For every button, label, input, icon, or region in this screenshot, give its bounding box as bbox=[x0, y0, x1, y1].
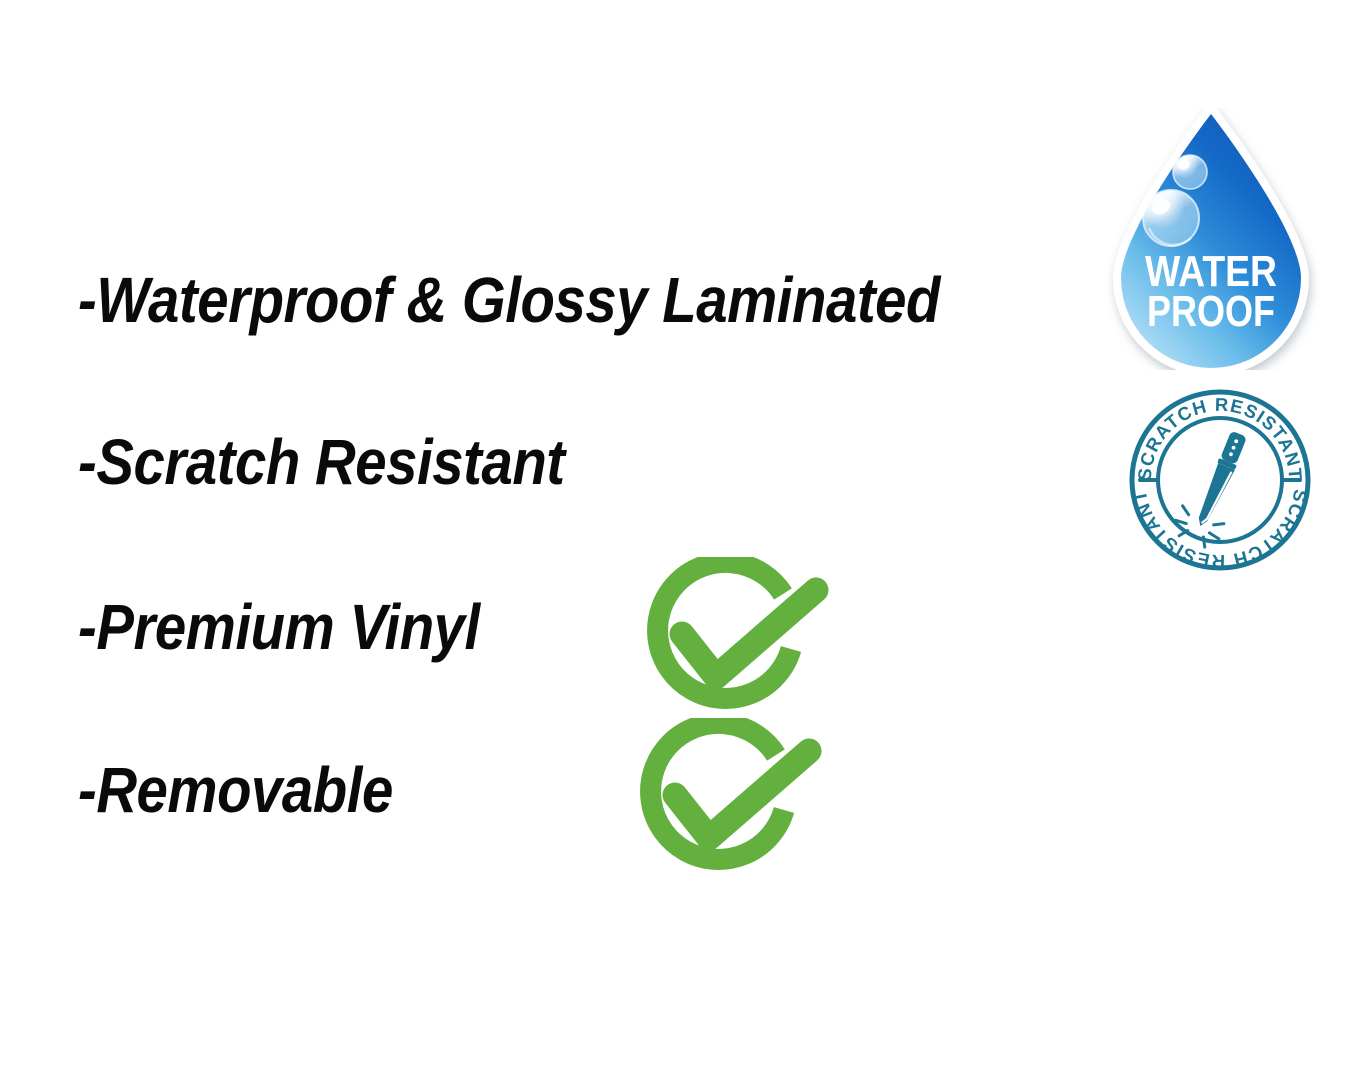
seal-text-bottom: SCRATCH RESISTANT bbox=[1129, 488, 1312, 572]
checkmark-premium-vinyl bbox=[640, 557, 836, 729]
checkmark-removable bbox=[633, 718, 829, 890]
feature-label: -Scratch Resistant bbox=[78, 430, 565, 494]
feature-label: -Premium Vinyl bbox=[78, 595, 480, 659]
feature-label: -Removable bbox=[78, 758, 393, 822]
feature-item-premium-vinyl: -Premium Vinyl bbox=[78, 595, 535, 659]
scratch-resistant-badge: SCRATCH RESISTANT SCRATCH RESISTANT bbox=[1124, 384, 1316, 576]
feature-list: -Waterproof & Glossy Laminated -Scratch … bbox=[0, 0, 1100, 1080]
waterproof-line2: PROOF bbox=[1147, 287, 1275, 336]
water-bubble-small bbox=[1173, 155, 1207, 189]
feature-item-removable: -Removable bbox=[78, 758, 436, 822]
water-drop-icon: WATER PROOF bbox=[1103, 108, 1319, 370]
feature-item-scratch-resistant: -Scratch Resistant bbox=[78, 430, 631, 494]
feature-label: -Waterproof & Glossy Laminated bbox=[78, 268, 940, 332]
knife-icon bbox=[1170, 424, 1258, 551]
knife-blade bbox=[1194, 463, 1235, 530]
product-features-graphic: -Waterproof & Glossy Laminated -Scratch … bbox=[0, 0, 1359, 1080]
check-circle-icon bbox=[640, 557, 836, 729]
feature-item-waterproof-glossy-laminated: -Waterproof & Glossy Laminated bbox=[78, 268, 1058, 332]
check-circle-icon bbox=[633, 718, 829, 890]
waterproof-badge: WATER PROOF bbox=[1103, 108, 1319, 370]
scratch-resistant-seal: SCRATCH RESISTANT SCRATCH RESISTANT bbox=[1124, 384, 1316, 576]
